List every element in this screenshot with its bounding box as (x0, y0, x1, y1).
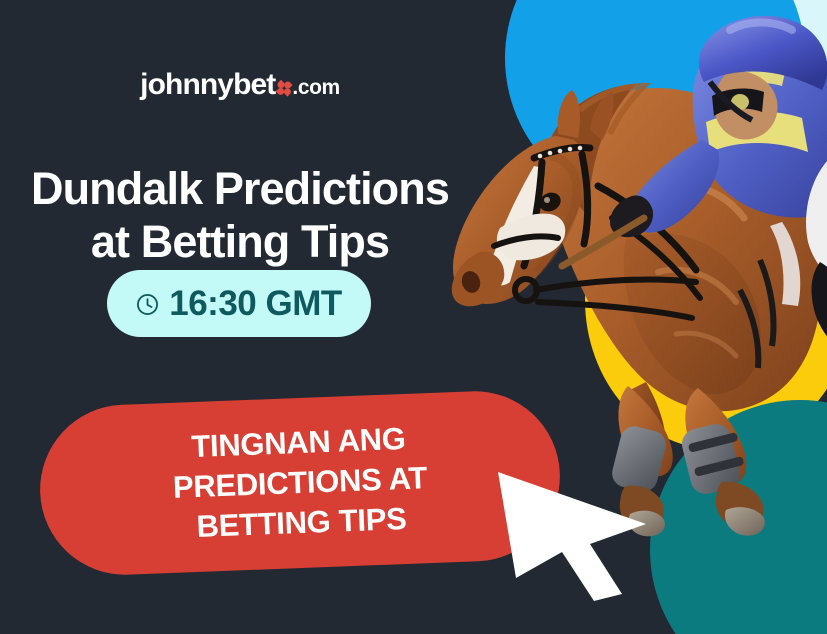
cta-line-1: TINGNAN ANG (191, 420, 406, 463)
race-time-badge: 16:30 GMT (107, 270, 371, 337)
logo-wordmark: johnnybet (140, 68, 275, 101)
clock-icon (136, 293, 159, 316)
page-title: Dundalk Predictions at Betting Tips (0, 162, 480, 268)
johnnybet-logo[interactable]: johnnybet.com (0, 68, 480, 102)
page-title-line-2: at Betting Tips (0, 215, 480, 268)
cta-line-2: PREDICTIONS AT (172, 460, 427, 505)
cta-button-label: TINGNAN ANG PREDICTIONS AT BETTING TIPS (171, 418, 430, 549)
promo-banner: johnnybet.com Dundalk Predictions at Bet… (0, 0, 827, 634)
logo-domain-suffix: .com (292, 76, 339, 99)
cta-line-3: BETTING TIPS (196, 501, 407, 544)
page-title-line-1: Dundalk Predictions (31, 163, 449, 214)
race-time-value: 16:30 GMT (169, 284, 342, 324)
cta-button[interactable]: TINGNAN ANG PREDICTIONS AT BETTING TIPS (37, 388, 563, 578)
banner-content: johnnybet.com Dundalk Predictions at Bet… (0, 0, 480, 634)
four-leaf-clover-icon (277, 81, 291, 95)
